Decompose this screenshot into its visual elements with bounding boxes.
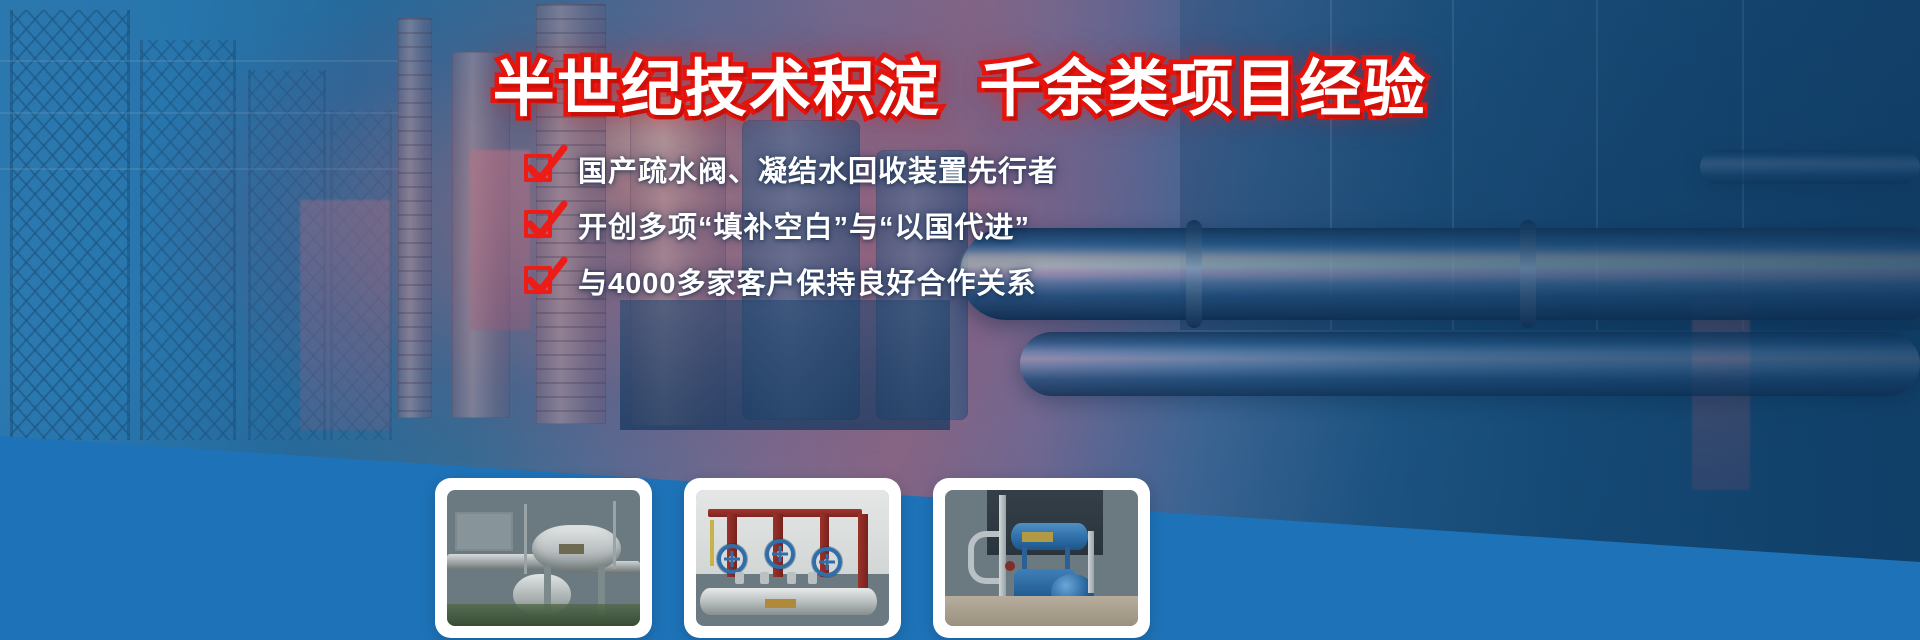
photo2-fitting-d [808, 572, 817, 584]
photo-gallery [435, 478, 1150, 638]
photo2-fitting-b [760, 572, 769, 584]
photo-card[interactable] [435, 478, 652, 638]
photo1-skid-frame [455, 512, 513, 551]
list-item: 开创多项“填补空白”与“以国代进” [524, 204, 1058, 246]
promo-banner: 半世纪技术积淀 千余类项目经验 国产疏水阀、凝结水回收装置先行者 开创多项“填补… [0, 0, 1920, 640]
photo3-nameplate [1022, 532, 1053, 542]
photo2-red-riser-d [858, 514, 868, 593]
list-item: 国产疏水阀、凝结水回收装置先行者 [524, 148, 1058, 190]
photo-card[interactable] [684, 478, 901, 638]
photo1-riser-b [613, 501, 616, 569]
checkbox-checked-icon [524, 264, 558, 298]
photo-card[interactable] [933, 478, 1150, 638]
photo2-nameplate [765, 599, 796, 609]
photo1-ground [447, 604, 640, 626]
photo2-yellow-post [710, 520, 715, 566]
photo2-fitting-a [735, 572, 744, 584]
list-item-label: 国产疏水阀、凝结水回收装置先行者 [578, 148, 1058, 190]
page-title: 半世纪技术积淀 千余类项目经验 [0, 38, 1920, 128]
list-item-label: 开创多项“填补空白”与“以国代进” [578, 204, 1030, 246]
photo1-nameplate [559, 544, 584, 554]
photo2-fitting-c [787, 572, 796, 584]
product-photo-1 [447, 490, 640, 626]
photo3-red-valve [1005, 561, 1015, 571]
feature-list: 国产疏水阀、凝结水回收装置先行者 开创多项“填补空白”与“以国代进” 与4000… [524, 148, 1058, 302]
photo3-side-pipe [1088, 531, 1094, 594]
photo1-riser-a [524, 504, 527, 575]
product-photo-2 [696, 490, 889, 626]
list-item-label: 与4000多家客户保持良好合作关系 [578, 260, 1037, 302]
checkbox-checked-icon [524, 208, 558, 242]
photo3-floor [945, 596, 1138, 626]
checkbox-checked-icon [524, 152, 558, 186]
list-item: 与4000多家客户保持良好合作关系 [524, 260, 1058, 302]
product-photo-3 [945, 490, 1138, 626]
